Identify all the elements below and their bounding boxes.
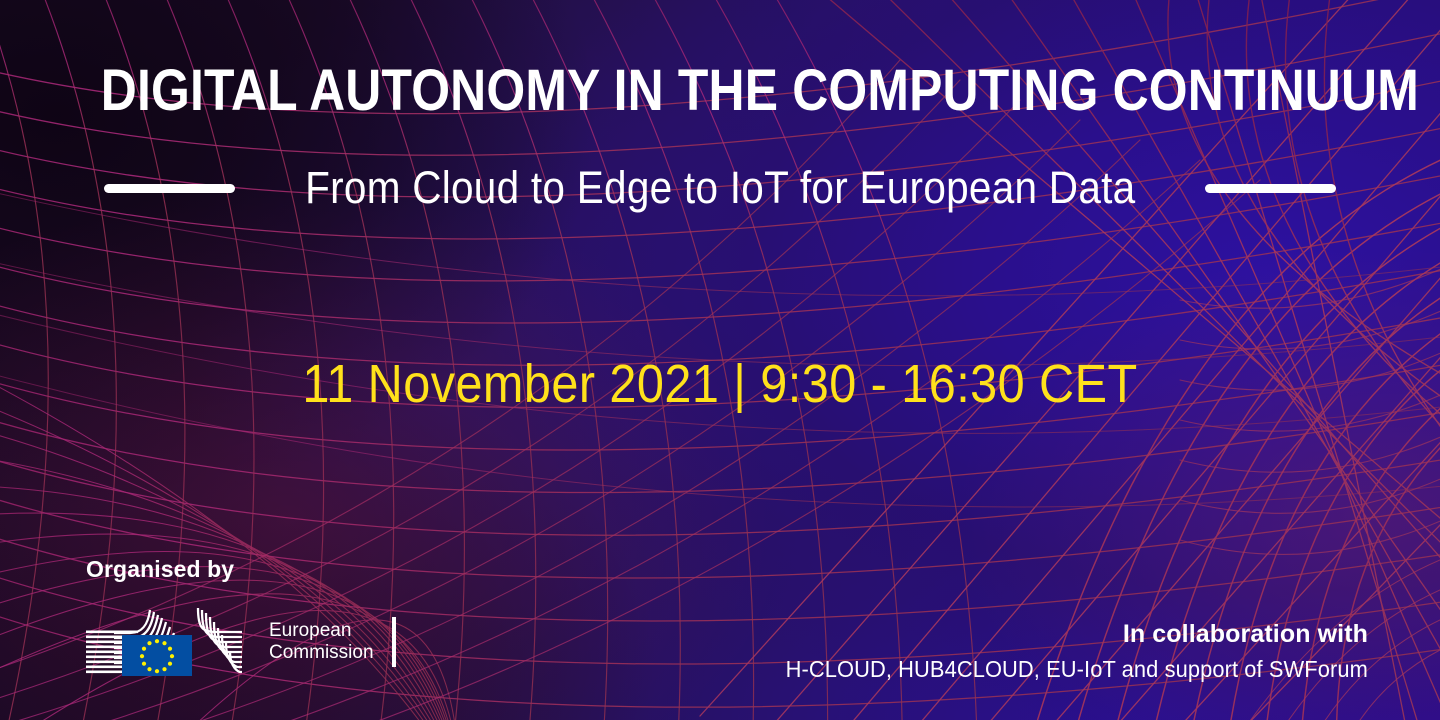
- ec-wordmark-line1: European: [269, 620, 374, 642]
- banner-subtitle: From Cloud to Edge to IoT for European D…: [305, 163, 1135, 213]
- organised-by-label: Organised by: [86, 556, 396, 583]
- banner-content: DIGITAL AUTONOMY IN THE COMPUTING CONTIN…: [0, 0, 1440, 720]
- event-banner: DIGITAL AUTONOMY IN THE COMPUTING CONTIN…: [0, 0, 1440, 720]
- organiser-block: Organised by: [86, 556, 396, 678]
- collaboration-block: In collaboration with H-CLOUD, HUB4CLOUD…: [755, 620, 1368, 683]
- logo-divider: [392, 617, 396, 667]
- banner-title: DIGITAL AUTONOMY IN THE COMPUTING CONTIN…: [101, 62, 1339, 120]
- rule-right-decoration: [1205, 184, 1336, 193]
- collaboration-partners: H-CLOUD, HUB4CLOUD, EU-IoT and support o…: [786, 656, 1368, 683]
- banner-subtitle-row: From Cloud to Edge to IoT for European D…: [0, 163, 1440, 213]
- ec-wordmark-line2: Commission: [269, 642, 374, 664]
- ec-wordmark: European Commission: [269, 620, 374, 664]
- eu-emblem-icon: [86, 606, 261, 678]
- european-commission-logo: European Commission: [86, 606, 396, 678]
- collaboration-title: In collaboration with: [755, 620, 1368, 649]
- rule-left-decoration: [104, 184, 235, 193]
- event-datetime: 11 November 2021 | 9:30 - 16:30 CET: [72, 355, 1368, 414]
